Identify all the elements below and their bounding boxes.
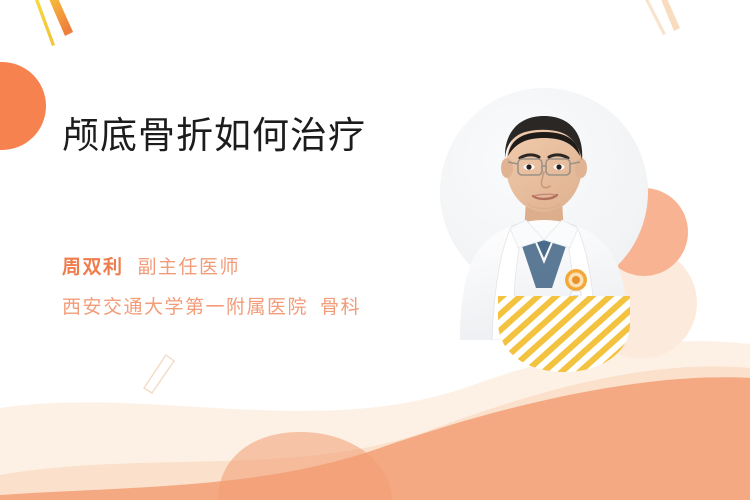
gold-stripe-decoration bbox=[498, 296, 630, 372]
doctor-rank: 副主任医师 bbox=[138, 257, 241, 278]
orange-circle-decoration bbox=[0, 62, 46, 150]
page-title: 颅底骨折如何治疗 bbox=[62, 112, 442, 159]
doctor-name: 周双利 bbox=[62, 257, 124, 278]
faint-diagonal-stroke-pair-icon bbox=[636, 0, 706, 48]
doctor-byline: 周双利副主任医师 bbox=[62, 252, 240, 279]
diagonal-stroke-pair-icon bbox=[28, 0, 90, 60]
text-block: 颅底骨折如何治疗 周双利副主任医师 西安交通大学第一附属医院骨科 bbox=[62, 112, 442, 159]
department-name: 骨科 bbox=[320, 297, 361, 318]
doctor-affiliation: 西安交通大学第一附属医院骨科 bbox=[62, 292, 361, 319]
stroke-yellow bbox=[32, 0, 55, 46]
video-thumbnail: 颅底骨折如何治疗 周双利副主任医师 西安交通大学第一附属医院骨科 bbox=[0, 0, 750, 500]
hospital-name: 西安交通大学第一附属医院 bbox=[62, 297, 308, 318]
stroke-orange bbox=[45, 0, 73, 36]
